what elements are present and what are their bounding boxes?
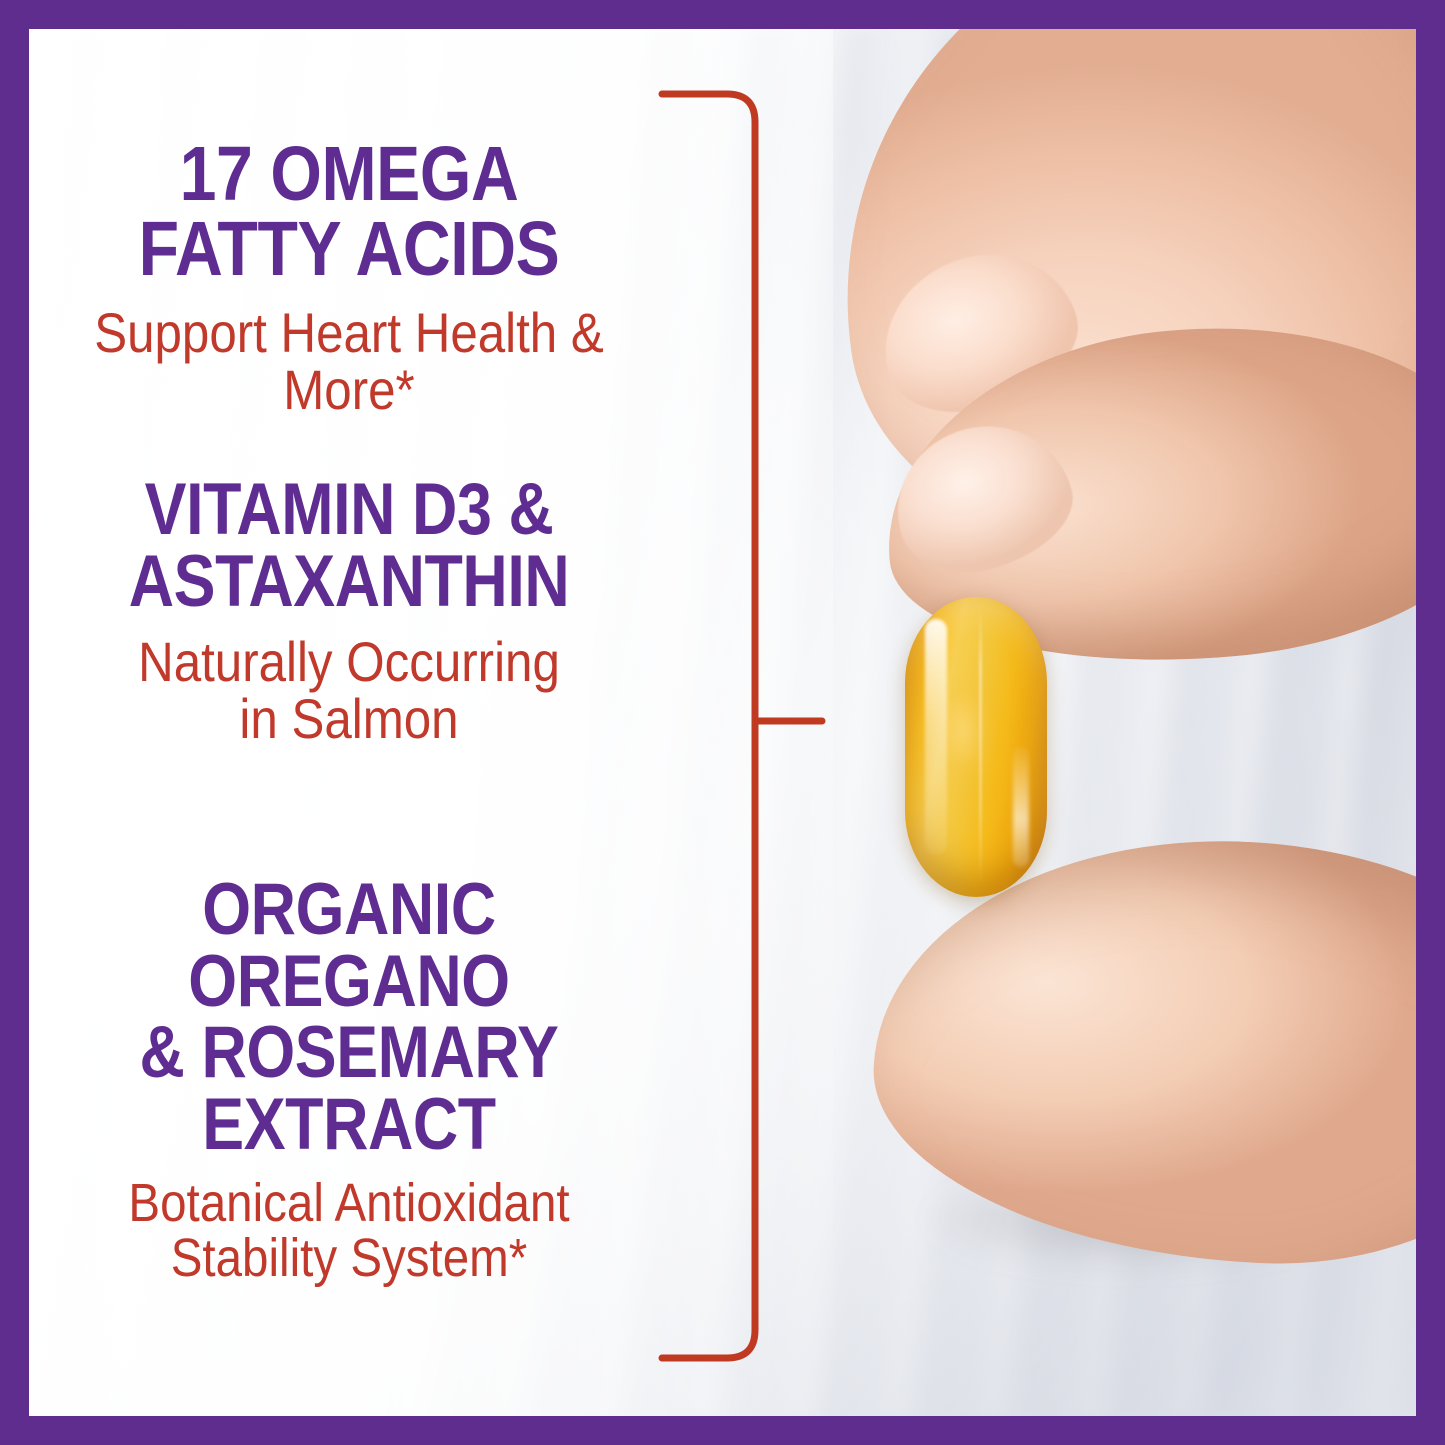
benefit-block-oregano-rosemary: ORGANIC OREGANO & ROSEMARY EXTRACT Botan… [29, 874, 669, 1286]
benefit-headline-vitamin-d3: VITAMIN D3 & ASTAXANTHIN [74, 474, 624, 617]
headline-line: ORGANIC OREGANO [74, 874, 624, 1017]
headline-line: EXTRACT [74, 1089, 624, 1161]
product-benefit-panel: 17 OMEGA FATTY ACIDS Support Heart Healt… [0, 0, 1445, 1445]
subline-line: Stability System* [67, 1231, 630, 1286]
benefit-subline-omega: Support Heart Health & More* [67, 304, 630, 418]
headline-line: FATTY ACIDS [74, 212, 624, 287]
subline-line: Botanical Antioxidant [67, 1176, 630, 1231]
benefit-subline-vitamin-d3: Naturally Occurring in Salmon [67, 633, 630, 747]
benefit-headline-oregano-rosemary: ORGANIC OREGANO & ROSEMARY EXTRACT [74, 874, 624, 1160]
headline-line: VITAMIN D3 & [74, 474, 624, 546]
headline-line: ASTAXANTHIN [74, 546, 624, 618]
capsule-seam [979, 607, 982, 887]
subline-line: Naturally Occurring [67, 633, 630, 690]
benefits-text-column: 17 OMEGA FATTY ACIDS Support Heart Healt… [29, 29, 669, 1416]
headline-line: & ROSEMARY [74, 1017, 624, 1089]
capsule-highlight-left [925, 619, 947, 855]
headline-line: 17 OMEGA [74, 137, 624, 212]
benefit-headline-omega: 17 OMEGA FATTY ACIDS [74, 137, 624, 288]
omega-3-softgel-capsule [905, 597, 1047, 897]
subline-line: Support Heart Health & More* [67, 304, 630, 418]
subline-line: in Salmon [67, 690, 630, 747]
capsule-highlight-right [1013, 747, 1029, 867]
benefit-subline-oregano-rosemary: Botanical Antioxidant Stability System* [67, 1176, 630, 1286]
benefit-block-omega: 17 OMEGA FATTY ACIDS Support Heart Healt… [29, 137, 669, 418]
benefit-block-vitamin-d3: VITAMIN D3 & ASTAXANTHIN Naturally Occur… [29, 474, 669, 747]
